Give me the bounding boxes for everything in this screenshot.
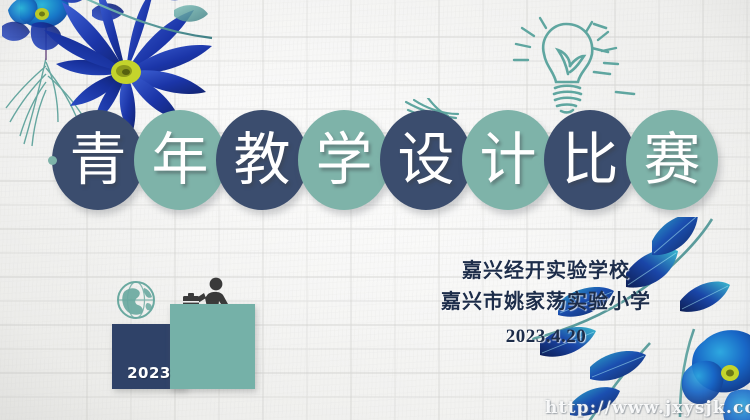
poster-canvas: 青 年 教 学 设 计 比 赛 嘉兴经开 — [0, 0, 750, 420]
title-banner: 青 年 教 学 设 计 比 赛 — [52, 110, 712, 210]
title-character: 青 — [52, 110, 144, 210]
podium-year-label: 2023 — [114, 364, 184, 382]
title-character: 教 — [216, 110, 308, 210]
title-char-cell: 比 — [544, 110, 636, 210]
title-char-cell: 赛 — [626, 110, 718, 210]
title-char-cell: 青 — [52, 110, 144, 210]
title-dot-separator — [370, 156, 379, 165]
title-dot-separator — [532, 156, 541, 165]
event-date: 2023.4.20 — [396, 321, 696, 352]
school-name-line-1: 嘉兴经开实验学校 — [396, 255, 696, 286]
school-name-line-2: 嘉兴市姚家荡实验小学 — [396, 286, 696, 317]
title-dot-separator — [48, 156, 57, 165]
title-char-cell: 设 — [380, 110, 472, 210]
subtitle-block: 嘉兴经开实验学校 嘉兴市姚家荡实验小学 2023.4.20 — [396, 255, 696, 352]
title-character: 赛 — [626, 110, 718, 210]
globe-icon — [114, 278, 158, 327]
title-char-cell: 教 — [216, 110, 308, 210]
title-dot-separator — [206, 156, 215, 165]
podium-graphic: 2023 — [100, 278, 280, 403]
title-character: 比 — [544, 110, 636, 210]
watermark-url: http://www.jxysjk.com — [545, 398, 750, 418]
title-character: 设 — [380, 110, 472, 210]
